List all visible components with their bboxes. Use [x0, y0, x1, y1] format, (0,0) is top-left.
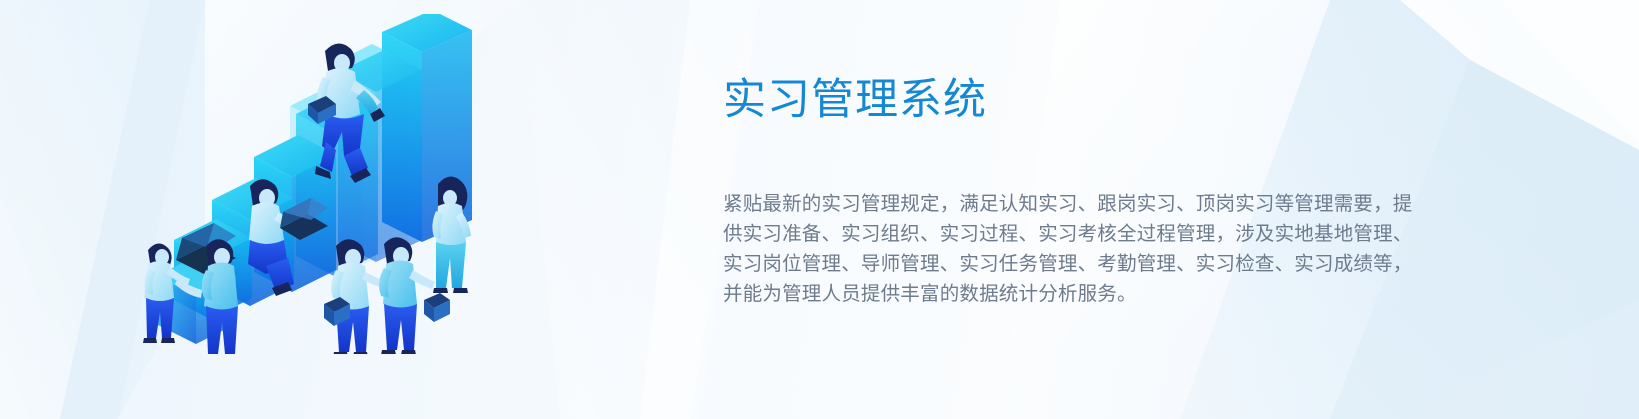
- description-line-3: 实习岗位管理、导师管理、实习任务管理、考勤管理、实习检查、实习成绩等，: [723, 249, 1399, 279]
- description-line-4: 并能为管理人员提供丰富的数据统计分析服务。: [723, 279, 1399, 309]
- person-woman-right: [432, 176, 471, 293]
- growth-chart-illustration: [140, 14, 500, 354]
- hero-copy: 实习管理系统 紧贴最新的实习管理规定，满足认知实习、跟岗实习、顶岗实习等管理需要…: [723, 72, 1423, 309]
- page-title: 实习管理系统: [723, 72, 1423, 128]
- description-line-2: 供实习准备、实习组织、实习过程、实习考核全过程管理，涉及实地基地管理、: [723, 219, 1399, 249]
- hero-banner: 实习管理系统 紧贴最新的实习管理规定，满足认知实习、跟岗实习、顶岗实习等管理需要…: [0, 0, 1639, 419]
- page-description: 紧贴最新的实习管理规定，满足认知实习、跟岗实习、顶岗实习等管理需要，提 供实习准…: [723, 128, 1399, 309]
- description-line-1: 紧贴最新的实习管理规定，满足认知实习、跟岗实习、顶岗实习等管理需要，提: [723, 189, 1399, 219]
